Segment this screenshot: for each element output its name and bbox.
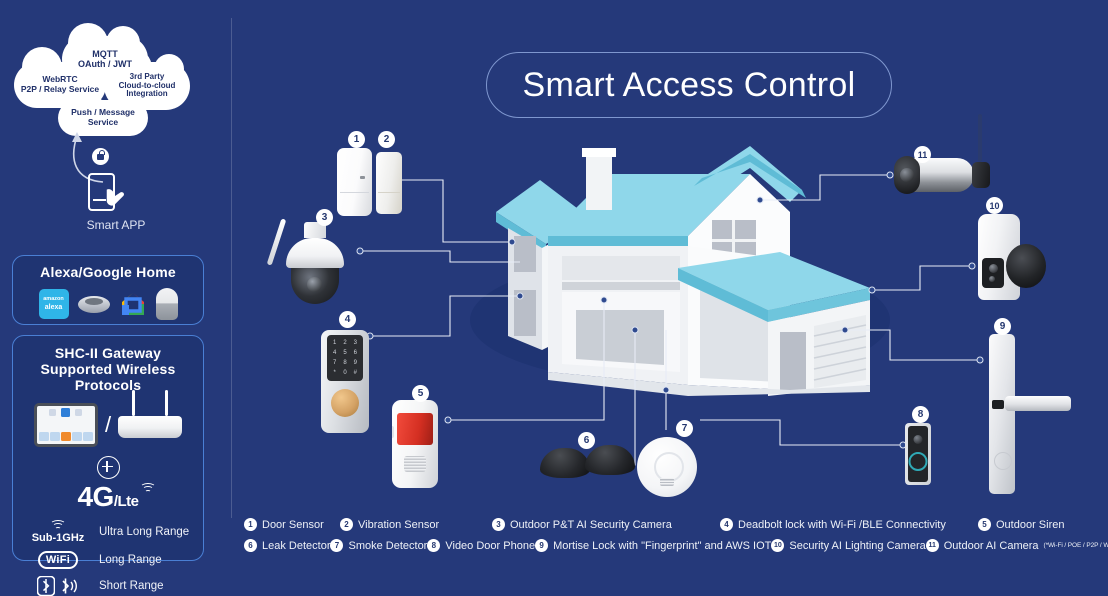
door-sensor[interactable] [337, 148, 372, 216]
cloud-mqtt-line1: MQTT [78, 49, 132, 59]
marker-11[interactable]: 11 [914, 146, 931, 163]
bluetooth-signal-icon [59, 576, 79, 596]
bluetooth-range: Short Range [99, 580, 164, 592]
legend-item-11[interactable]: 11 Outdoor AI Camera (*Wi-Fi / POE / P2P… [926, 539, 1108, 552]
leak-detector[interactable] [540, 448, 590, 478]
door-handle[interactable] [1005, 396, 1071, 411]
marker-3[interactable]: 3 [316, 209, 333, 226]
key-3[interactable]: 3 [351, 339, 360, 348]
cloud-push-line2: Service [71, 118, 135, 128]
lock-indicator-icon [994, 452, 1012, 470]
legend-item-4[interactable]: 4 Deadbolt lock with Wi-Fi /BLE Connecti… [720, 518, 978, 531]
key-0[interactable]: 0 [340, 368, 349, 377]
key-9[interactable]: 9 [351, 359, 360, 368]
legend-num-6: 6 [244, 539, 257, 552]
key-4[interactable]: 4 [330, 349, 339, 358]
outdoor-ptz-ai-security-camera[interactable] [286, 222, 344, 304]
legend-label-9: Mortise Lock with "Fingerprint" and AWS … [553, 540, 771, 552]
legend-label-4: Deadbolt lock with Wi-Fi /BLE Connectivi… [738, 519, 946, 531]
marker-4[interactable]: 4 [339, 311, 356, 328]
legend-item-2[interactable]: 2 Vibration Sensor [340, 518, 492, 531]
marker-5[interactable]: 5 [412, 385, 429, 402]
marker-1[interactable]: 1 [348, 131, 365, 148]
legend-label-1: Door Sensor [262, 519, 324, 531]
cloud-third-line3: Integration [119, 90, 176, 99]
protocol-row-bluetooth: Short Range [27, 576, 203, 596]
bluetooth-icon [37, 576, 55, 596]
legend-row-2: 6 Leak Detector 7 Smoke Detector 8 Video… [244, 539, 1108, 552]
vibration-sensor[interactable] [376, 152, 402, 214]
legend-label-2: Vibration Sensor [358, 519, 439, 531]
legend-item-3[interactable]: 3 Outdoor P&T AI Security Camera [492, 518, 720, 531]
key-2[interactable]: 2 [340, 339, 349, 348]
key-7[interactable]: 7 [330, 359, 339, 368]
legend-label-10: Security AI Lighting Camera [789, 540, 925, 552]
marker-10[interactable]: 10 [986, 197, 1003, 214]
marker-8[interactable]: 8 [912, 406, 929, 423]
key-star[interactable]: * [330, 368, 339, 377]
legend-num-7: 7 [330, 539, 343, 552]
leak-detector[interactable] [585, 445, 635, 475]
mortise-fingerprint-lock[interactable] [989, 334, 1015, 494]
key-6[interactable]: 6 [351, 349, 360, 358]
legend-label-11: Outdoor AI Camera [944, 540, 1039, 552]
video-door-phone[interactable] [905, 423, 931, 485]
deadbolt-keypad-lock[interactable]: 1 2 3 4 5 6 7 8 9 * 0 # [321, 330, 369, 433]
legend-num-3: 3 [492, 518, 505, 531]
key-1[interactable]: 1 [330, 339, 339, 348]
legend-num-10: 10 [771, 539, 784, 552]
key-5[interactable]: 5 [340, 349, 349, 358]
smoke-detector[interactable] [637, 437, 697, 497]
legend-label-5: Outdoor Siren [996, 519, 1064, 531]
infographic-canvas: WebRTC P2P / Relay Service 3rd Party Clo… [0, 0, 1108, 577]
key-8[interactable]: 8 [340, 359, 349, 368]
legend-label-11-sub: (*Wi-Fi / POE / P2P / WebRTC*) [1044, 542, 1108, 549]
outdoor-ai-bullet-camera[interactable] [896, 158, 974, 192]
legend-item-1[interactable]: 1 Door Sensor [244, 518, 340, 531]
legend-num-4: 4 [720, 518, 733, 531]
legend-num-11: 11 [926, 539, 939, 552]
legend-item-5[interactable]: 5 Outdoor Siren [978, 518, 1064, 531]
legend-item-9[interactable]: 9 Mortise Lock with "Fingerprint" and AW… [535, 539, 771, 552]
deadbolt-knob[interactable] [331, 389, 359, 417]
legend-row-1: 1 Door Sensor 2 Vibration Sensor 3 Outdo… [244, 518, 1108, 531]
legend-label-3: Outdoor P&T AI Security Camera [510, 519, 672, 531]
marker-6[interactable]: 6 [578, 432, 595, 449]
legend-item-7[interactable]: 7 Smoke Detector [330, 539, 427, 552]
legend: 1 Door Sensor 2 Vibration Sensor 3 Outdo… [244, 518, 1108, 560]
legend-label-8: Video Door Phone [445, 540, 535, 552]
legend-num-1: 1 [244, 518, 257, 531]
legend-num-9: 9 [535, 539, 548, 552]
legend-item-8[interactable]: 8 Video Door Phone [427, 539, 535, 552]
deadbolt-keypad[interactable]: 1 2 3 4 5 6 7 8 9 * 0 # [327, 335, 363, 381]
marker-7[interactable]: 7 [676, 420, 693, 437]
legend-label-7: Smoke Detector [348, 540, 427, 552]
outdoor-siren[interactable] [392, 400, 438, 488]
marker-2[interactable]: 2 [378, 131, 395, 148]
legend-num-8: 8 [427, 539, 440, 552]
cloud-mqtt-line2: OAuth / JWT [78, 59, 132, 69]
legend-item-6[interactable]: 6 Leak Detector [244, 539, 330, 552]
key-hash[interactable]: # [351, 368, 360, 377]
legend-item-10[interactable]: 10 Security AI Lighting Camera [771, 539, 925, 552]
security-ai-lighting-camera[interactable] [978, 214, 1020, 300]
legend-num-2: 2 [340, 518, 353, 531]
marker-9[interactable]: 9 [994, 318, 1011, 335]
legend-label-6: Leak Detector [262, 540, 330, 552]
fingerprint-reader-icon[interactable] [992, 400, 1004, 409]
cloud-webrtc-line2: P2P / Relay Service [21, 85, 99, 95]
legend-num-5: 5 [978, 518, 991, 531]
